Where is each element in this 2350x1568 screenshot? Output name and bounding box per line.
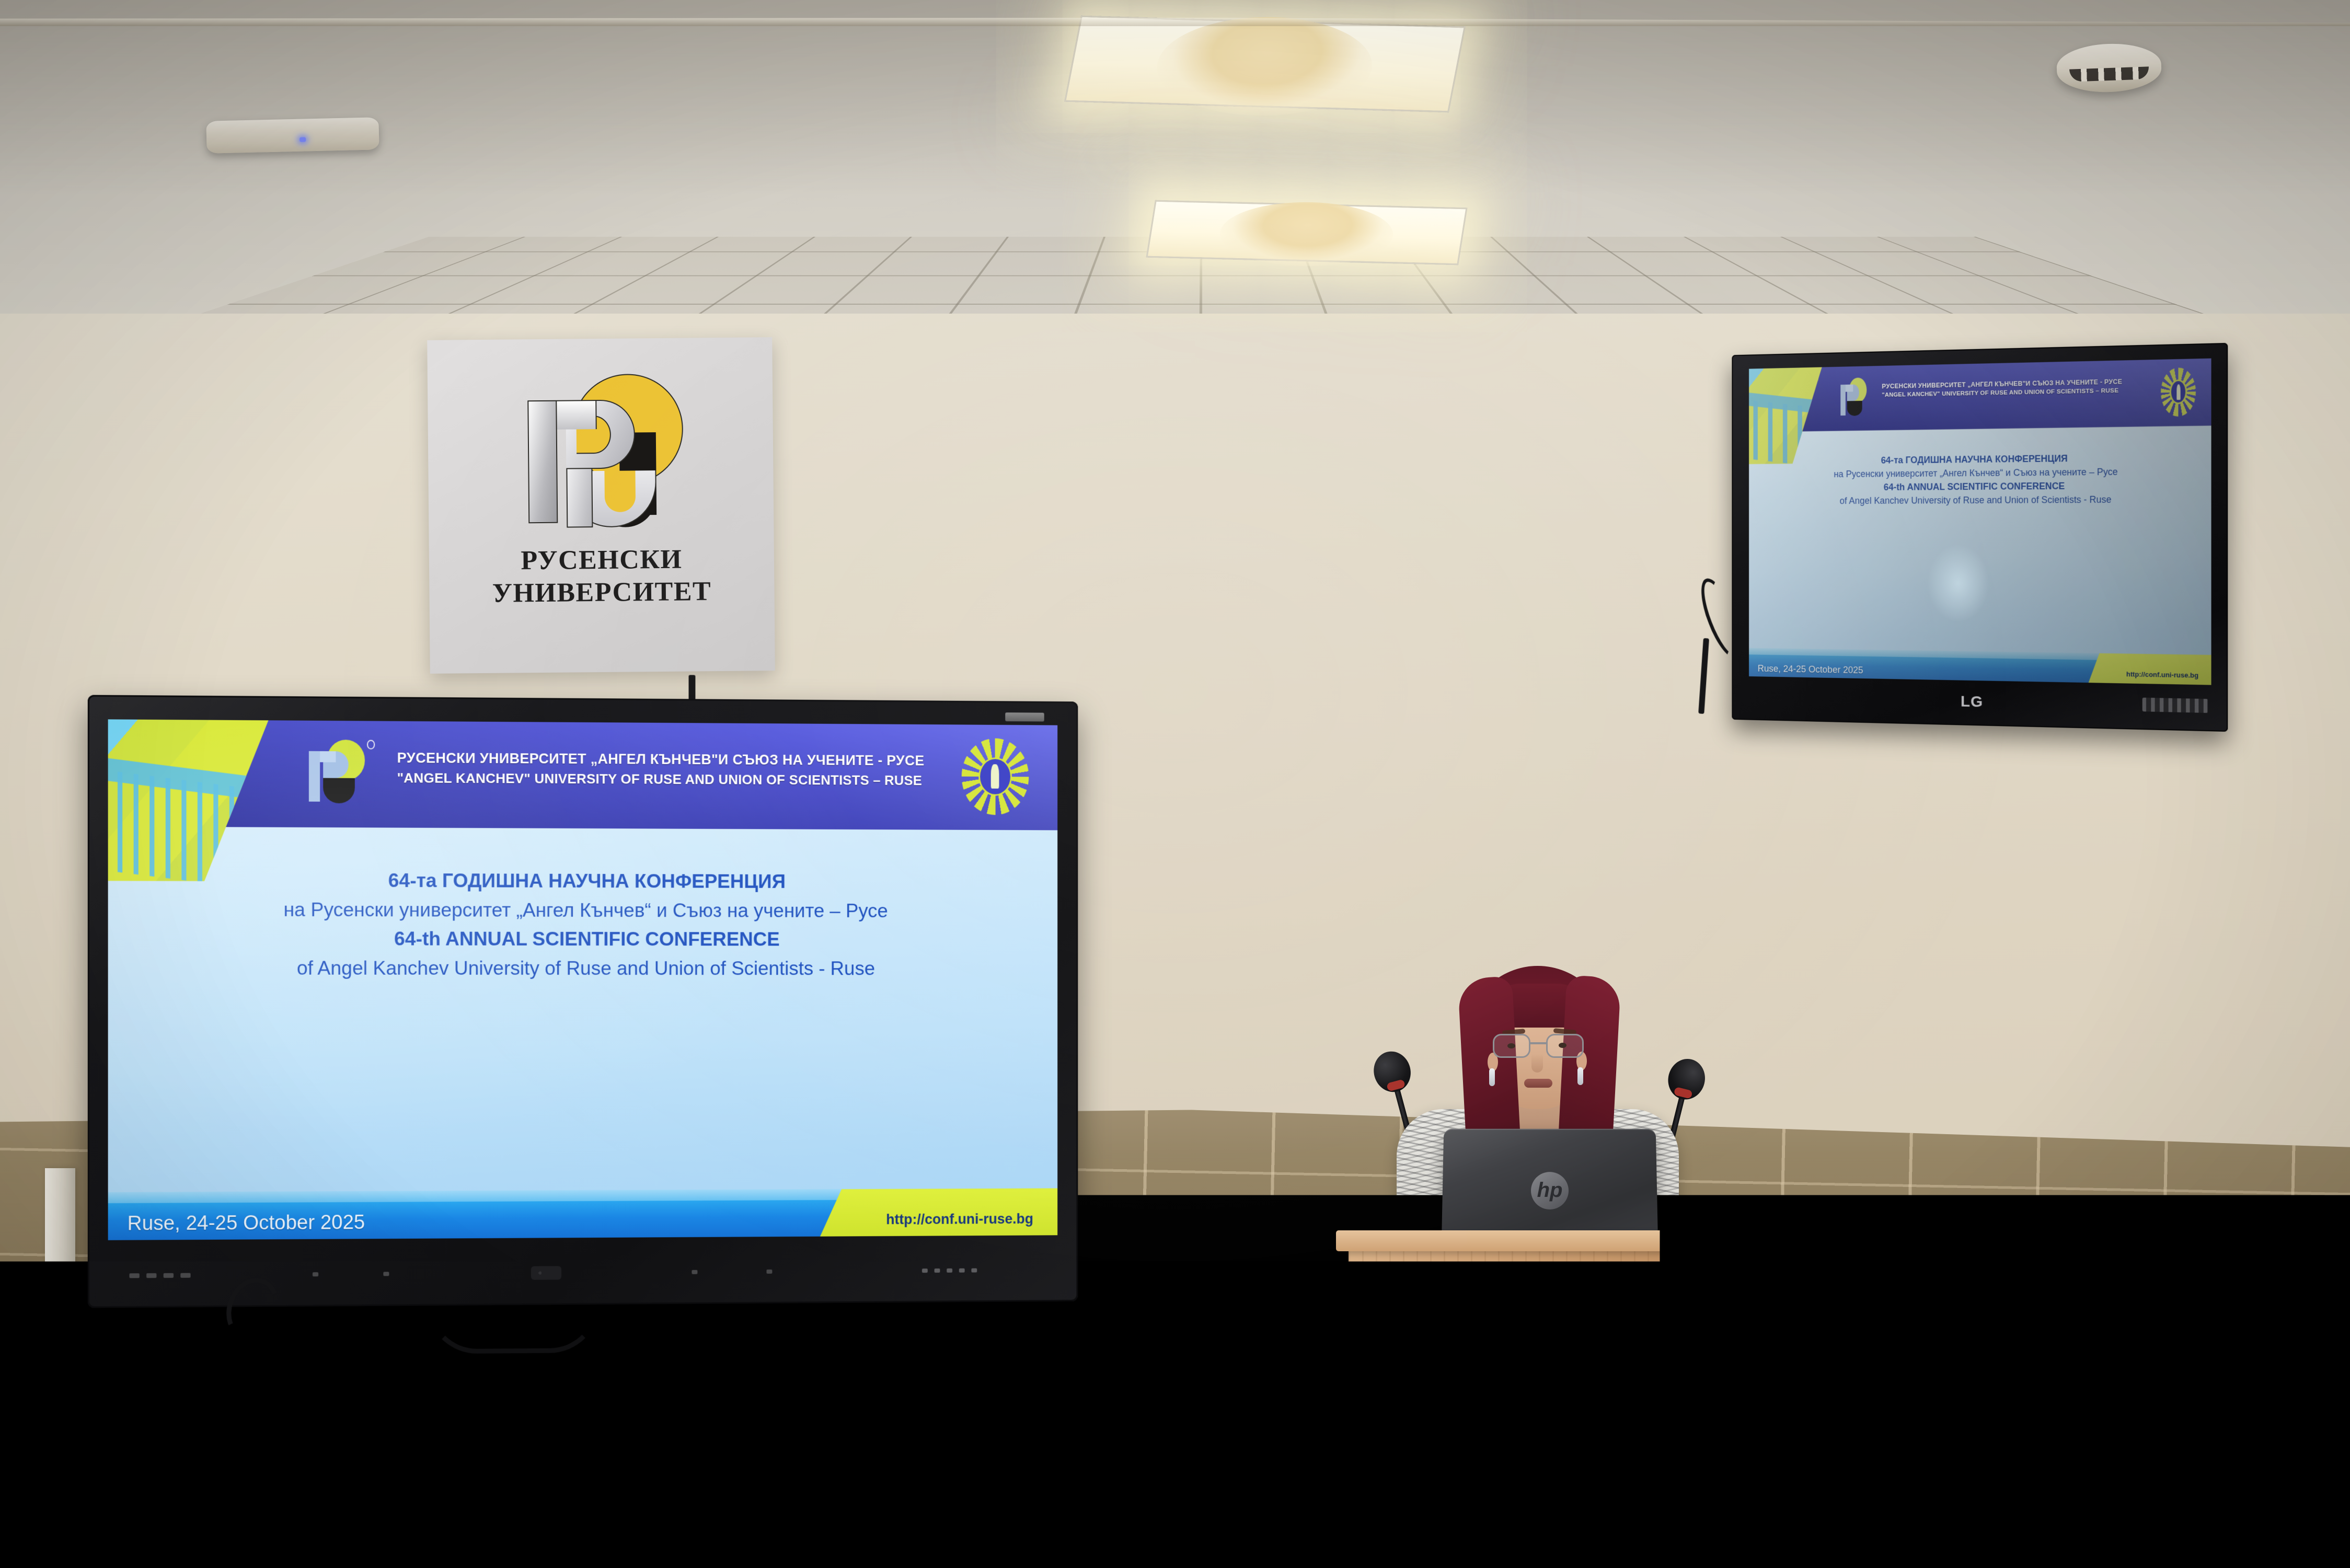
ru-university-logo-icon [514, 363, 688, 537]
tv-ru-logo-icon [1838, 377, 1868, 420]
water-bottle: PIRIN [1301, 1437, 1334, 1559]
banner-line-bg: РУСЕНСКИ УНИВЕРСИТЕТ „АНГЕЛ КЪНЧЕВ"И СЪЮ… [397, 748, 852, 770]
wall-logo-plaque: РУСЕНСКИ УНИВЕРСИТЕТ [427, 337, 775, 674]
slide-banner-titles: РУСЕНСКИ УНИВЕРСИТЕТ „АНГЕЛ КЪНЧЕВ"И СЪЮ… [397, 748, 852, 790]
hp-logo-icon: hp [1531, 1172, 1569, 1209]
panel-indicator-cluster [922, 1269, 977, 1273]
tv-union-emblem-icon [2161, 367, 2196, 417]
slide-footer-location-date: Ruse, 24-25 October 2025 [128, 1212, 365, 1236]
water-bottle: PIRIN [852, 1444, 884, 1565]
panel-button-cluster-left[interactable] [129, 1273, 190, 1278]
glass-award [707, 1401, 816, 1558]
wall-mounted-tv[interactable]: РУСЕНСКИ УНИВЕРСИТЕТ „АНГЕЛ КЪНЧЕВ"И СЪЮ… [1732, 343, 2228, 732]
bottle-label: PIRIN [854, 1509, 860, 1526]
panel-button-cluster-right[interactable] [692, 1270, 772, 1274]
slide-en-title: 64-th ANNUAL SCIENTIFIC CONFERENCE [166, 924, 1002, 954]
bottle-label: PIRIN [1304, 1503, 1310, 1519]
tv-footer-location-date: Ruse, 24-25 October 2025 [1758, 663, 1863, 676]
panel-top-post [688, 675, 695, 701]
tv-footer-url: http://conf.uni-ruse.bg [2126, 671, 2198, 679]
tv-presentation-slide: РУСЕНСКИ УНИВЕРСИТЕТ „АНГЕЛ КЪНЧЕВ"И СЪЮ… [1749, 359, 2211, 685]
podium-ru-logo-plaque [1480, 1311, 1610, 1443]
panel-speaker-grille [531, 1266, 561, 1279]
presentation-slide: РУСЕНСКИ УНИВЕРСИТЕТ „АНГЕЛ КЪНЧЕВ"И СЪЮ… [108, 719, 1058, 1240]
ceiling-light-panel [1146, 200, 1467, 266]
glass-award [260, 1404, 370, 1561]
union-of-scientists-emblem-icon [962, 738, 1029, 815]
tv-brand-label: LG [1961, 693, 1983, 711]
panel-brand-tag [1005, 712, 1044, 721]
tv-control-badge [2142, 698, 2208, 713]
bottle-cap [1309, 1437, 1327, 1451]
slide-bg-title: 64-та ГОДИШНА НАУЧНА КОНФЕРЕНЦИЯ [166, 866, 1002, 897]
speaker-podium [1349, 1239, 1751, 1568]
tv-en-subtitle: of Angel Kanchev University of Ruse and … [1775, 492, 2182, 508]
banner-line-en: "ANGEL KANCHEV" UNIVERSITY OF RUSE AND U… [397, 768, 852, 790]
bottle-label: PIRIN [105, 1510, 111, 1527]
interactive-flat-panel[interactable]: РУСЕНСКИ УНИВЕРСИТЕТ „АНГЕЛ КЪНЧЕВ"И СЪЮ… [88, 695, 1078, 1308]
bottle-cap [110, 1445, 128, 1458]
plaque-line-1: РУСЕНСКИ [492, 545, 711, 576]
glass-award [935, 1403, 1044, 1560]
wifi-access-point-icon [206, 117, 379, 153]
bottle-cap [629, 1447, 648, 1460]
water-bottle: PIRIN [622, 1447, 654, 1568]
water-bottle: PIRIN [387, 1442, 419, 1563]
water-bottle: PIRIN [102, 1445, 135, 1566]
panel-button-cluster-mid[interactable] [313, 1272, 389, 1276]
bottle-label: PIRIN [389, 1507, 395, 1524]
panel-screen[interactable]: РУСЕНСКИ УНИВЕРСИТЕТ „АНГЕЛ КЪНЧЕВ"И СЪЮ… [108, 719, 1058, 1240]
podium-top [1336, 1230, 1764, 1251]
plaque-line-2: УНИВЕРСИТЕТ [492, 577, 712, 608]
slide-body: 64-та ГОДИШНА НАУЧНА КОНФЕРЕНЦИЯ на Русе… [166, 866, 1002, 983]
panel-cable [427, 1302, 600, 1354]
slide-ru-logo-icon [304, 738, 367, 809]
bottle-label: PIRIN [624, 1512, 630, 1529]
conference-hall-photo: РУСЕНСКИ УНИВЕРСИТЕТ РУСЕНСКИ УНИВЕРСИТЕ… [0, 0, 2350, 1568]
slide-bg-subtitle: на Русенски университет „Ангел Кънчев“ и… [166, 895, 1002, 926]
slide-footer-url: http://conf.uni-ruse.bg [886, 1211, 1033, 1228]
bottle-cap [394, 1442, 412, 1455]
bottle-cap [859, 1444, 878, 1457]
tv-screen[interactable]: РУСЕНСКИ УНИВЕРСИТЕТ „АНГЕЛ КЪНЧЕВ"И СЪЮ… [1749, 359, 2211, 685]
wall-column-trim [45, 1168, 75, 1461]
ceiling-light-panel [1064, 16, 1466, 113]
slide-en-subtitle: of Angel Kanchev University of Ruse and … [166, 953, 1002, 983]
